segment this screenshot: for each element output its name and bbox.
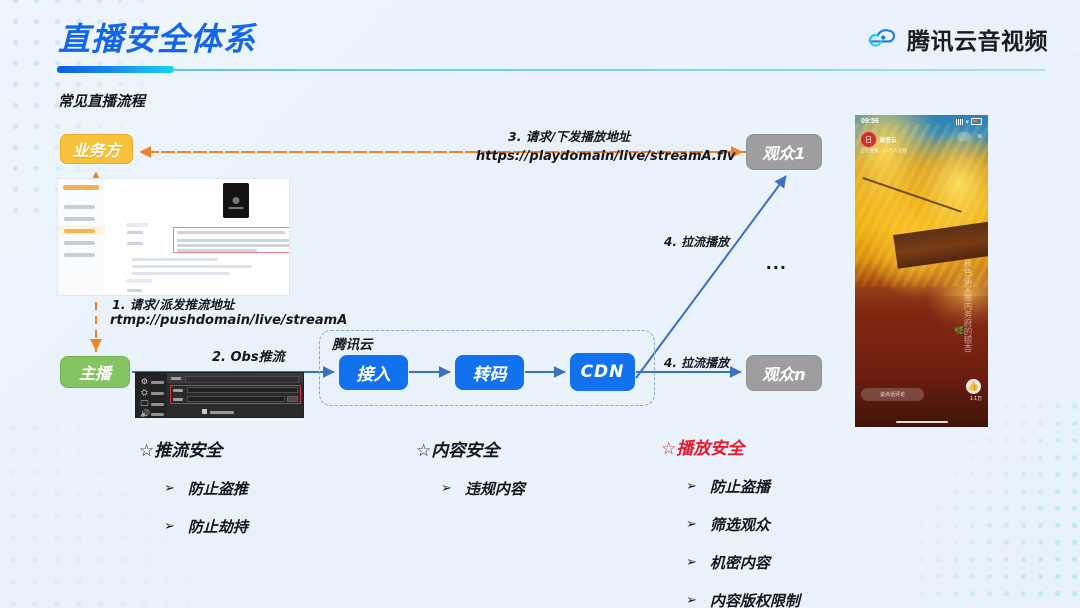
wifi-icon: ▾ xyxy=(965,118,969,126)
phone-top-actions: ✕ xyxy=(957,132,983,141)
bullet-arrow-icon: ➢ xyxy=(164,481,175,496)
node-viewer-1[interactable]: 观众1 xyxy=(746,134,822,170)
console-menu-item xyxy=(64,229,95,233)
console-field-value xyxy=(177,239,290,242)
obs-checkbox-label xyxy=(210,411,234,414)
list-item: ➢ 违规内容 xyxy=(441,478,525,499)
bullet-arrow-icon: ➢ xyxy=(686,593,697,608)
sticker-icon: 🌿 xyxy=(954,326,964,335)
more-viewers-ellipsis: ... xyxy=(766,252,787,275)
tencent-cloud-group-label: 腾讯云 xyxy=(332,333,373,353)
section-list: ➢ 违规内容 xyxy=(416,478,525,499)
bullet-arrow-icon: ➢ xyxy=(441,481,452,496)
list-item-label: 防止盗播 xyxy=(710,476,770,497)
display-icon: 🖵 xyxy=(140,399,149,408)
node-access[interactable]: 接入 xyxy=(339,355,408,390)
console-sidebar xyxy=(58,179,106,295)
page-subtitle: 常见直播流程 xyxy=(58,90,145,111)
node-anchor[interactable]: 主播 xyxy=(60,356,130,388)
console-section-title xyxy=(126,223,148,227)
obs-screenshot: ⚙ ⛭ 🖵 🔊 xyxy=(135,372,304,418)
list-item-label: 防止盗推 xyxy=(188,478,248,499)
mobile-live-preview: 09:56 ▾ 日 故宫云 正在直播 · 1.4万人在线 ✕ 秋色弘义阁内务府的… xyxy=(855,115,988,427)
phone-clock: 09:56 xyxy=(861,118,879,125)
console-phone-preview xyxy=(223,183,249,218)
console-field-label xyxy=(127,289,142,292)
console-screenshot xyxy=(57,178,290,296)
obs-checkbox[interactable] xyxy=(202,409,207,414)
section-content-security: ☆内容安全 ➢ 违规内容 xyxy=(416,436,525,499)
section-play-security: ☆播放安全 ➢ 防止盗播 ➢ 筛选观众 ➢ 机密内容 ➢ 内容版权限制 xyxy=(661,434,800,608)
title-underline-line xyxy=(172,69,1046,71)
console-field-label xyxy=(127,242,143,245)
list-item: ➢ 机密内容 xyxy=(686,552,800,573)
console-menu-item xyxy=(64,253,95,257)
bullet-arrow-icon: ➢ xyxy=(686,517,697,532)
slide-canvas: 直播安全体系 常见直播流程 腾讯云音视频 xyxy=(0,0,1080,608)
vertical-caption: 秋色弘义阁内务府的银杏 xyxy=(959,259,972,353)
console-field-value xyxy=(177,249,257,252)
console-hint-line xyxy=(132,258,218,261)
list-item-label: 筛选观众 xyxy=(710,514,770,535)
console-menu-item xyxy=(64,205,95,209)
audio-icon: 🔊 xyxy=(140,409,149,418)
console-main-pane xyxy=(105,179,289,295)
bullet-arrow-icon: ➢ xyxy=(686,479,697,494)
obs-service-label xyxy=(171,377,181,380)
page-title: 直播安全体系 xyxy=(58,14,256,60)
console-field-label xyxy=(127,231,143,234)
console-hint-line xyxy=(132,272,230,275)
brand-lockup: 腾讯云音视频 xyxy=(864,22,1048,56)
section-heading: ☆推流安全 xyxy=(139,436,248,461)
bullet-arrow-icon: ➢ xyxy=(164,519,175,534)
label-step2: 2. Obs推流 xyxy=(212,349,285,367)
node-cdn[interactable]: CDN xyxy=(570,353,635,391)
decorative-dots-bottom-right xyxy=(913,398,1080,608)
section-list: ➢ 防止盗播 ➢ 筛选观众 ➢ 机密内容 ➢ 内容版权限制 xyxy=(661,476,800,608)
thumbs-up-icon[interactable]: 👍 xyxy=(966,379,981,394)
list-item-label: 防止劫持 xyxy=(188,516,248,537)
comment-input[interactable]: 说点话评论 xyxy=(861,388,924,401)
section-push-security: ☆推流安全 ➢ 防止盗推 ➢ 防止劫持 xyxy=(139,436,248,537)
console-logo-icon xyxy=(63,185,99,190)
home-indicator xyxy=(896,421,948,424)
list-item-label: 内容版权限制 xyxy=(710,590,800,608)
obs-sidebar: ⚙ ⛭ 🖵 🔊 xyxy=(136,373,167,417)
close-icon[interactable]: ✕ xyxy=(976,132,983,141)
console-field-value xyxy=(177,244,290,247)
phone-status-icons: ▾ xyxy=(956,118,982,126)
section-list: ➢ 防止盗推 ➢ 防止劫持 xyxy=(139,478,248,537)
list-item: ➢ 防止盗推 xyxy=(164,478,248,499)
console-menu-item xyxy=(64,217,95,221)
obs-show-button[interactable] xyxy=(287,396,298,402)
host-chip[interactable]: 日 故宫云 xyxy=(860,131,897,148)
node-business[interactable]: 业务方 xyxy=(60,134,133,164)
host-name: 故宫云 xyxy=(880,136,897,144)
like-count: 1.1万 xyxy=(970,395,982,402)
node-viewer-n[interactable]: 观众n xyxy=(746,355,822,391)
label-step1-title: 1. 请求/派发推流地址 xyxy=(112,296,234,313)
label-step3-title: 3. 请求/下发播放地址 xyxy=(508,128,630,145)
list-item-label: 违规内容 xyxy=(465,478,525,499)
label-step3-url: https://playdomain/live/streamA.flv xyxy=(476,148,735,166)
console-field-value xyxy=(177,231,285,234)
list-item: ➢ 筛选观众 xyxy=(686,514,800,535)
section-heading: ☆内容安全 xyxy=(416,436,525,461)
brand-name: 腾讯云音视频 xyxy=(907,22,1048,56)
signal-icon xyxy=(956,119,963,125)
gear-icon: ⚙ xyxy=(140,377,149,386)
section-heading: ☆播放安全 xyxy=(661,434,800,459)
obs-server-label xyxy=(173,389,183,392)
label-step1-url: rtmp://pushdomain/live/streamA xyxy=(110,312,347,330)
obs-streamkey-label xyxy=(173,398,183,401)
obs-streamkey-input[interactable] xyxy=(187,396,285,402)
console-section-title xyxy=(126,279,152,283)
broadcast-icon: ⛭ xyxy=(140,388,149,397)
console-menu-item xyxy=(64,241,95,245)
obs-server-input[interactable] xyxy=(187,387,298,393)
bullet-arrow-icon: ➢ xyxy=(686,555,697,570)
label-step4-bottom: 4. 拉流播放 xyxy=(664,355,729,372)
battery-icon xyxy=(971,118,982,125)
node-transcode[interactable]: 转码 xyxy=(455,355,524,390)
list-item-label: 机密内容 xyxy=(710,552,770,573)
label-step4-top: 4. 拉流播放 xyxy=(664,234,729,251)
obs-service-select[interactable] xyxy=(185,376,299,383)
live-meta: 正在直播 · 1.4万人在线 xyxy=(860,148,907,154)
list-item: ➢ 防止盗播 xyxy=(686,476,800,497)
tencent-cloud-logo-icon xyxy=(864,25,898,54)
avatar: 日 xyxy=(860,131,877,148)
list-item: ➢ 防止劫持 xyxy=(164,516,248,537)
share-button[interactable] xyxy=(957,132,971,141)
list-item: ➢ 内容版权限制 xyxy=(686,590,800,608)
title-underline-accent xyxy=(57,66,174,73)
phone-status-bar: 09:56 ▾ xyxy=(855,115,988,128)
console-hint-line xyxy=(132,265,252,268)
